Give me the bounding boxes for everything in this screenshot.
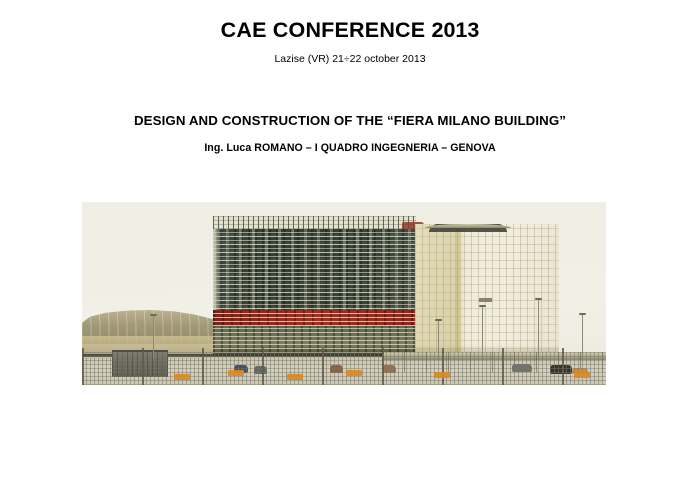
- fence-foot: [346, 370, 362, 376]
- building-photograph: [82, 202, 606, 385]
- construction-fence-posts: [82, 348, 606, 385]
- paper-title: DESIGN AND CONSTRUCTION OF THE “FIERA MI…: [0, 113, 700, 128]
- fence-foot: [228, 370, 244, 376]
- conference-title-year: 2013: [432, 18, 480, 42]
- mosaic-facade-tower: [213, 216, 416, 357]
- fence-foot: [287, 374, 303, 380]
- lamp-post-head: [579, 313, 586, 315]
- lamp-post-head: [150, 314, 157, 316]
- author-affiliation-line: Ing. Luca ROMANO – I QUADRO INGEGNERIA –…: [0, 142, 700, 155]
- conference-subtitle: Lazise (VR) 21÷22 october 2013: [0, 53, 700, 66]
- fence-foot: [174, 374, 190, 380]
- fence-foot: [434, 372, 450, 378]
- facade-crown-louvers: [213, 216, 416, 229]
- lamp-post-head: [435, 319, 442, 321]
- glass-block-sign-plate: [479, 298, 492, 302]
- presentation-slide: CAE CONFERENCE 2013 Lazise (VR) 21÷22 oc…: [0, 0, 700, 494]
- lamp-post-head: [535, 298, 542, 300]
- lamp-post-head: [479, 305, 486, 307]
- facade-red-band: [213, 310, 416, 326]
- conference-title: CAE CONFERENCE 2013: [0, 19, 700, 43]
- conference-title-main: CAE CONFERENCE: [221, 18, 426, 42]
- glass-block-roof-lip: [425, 224, 511, 228]
- fence-foot: [574, 372, 590, 378]
